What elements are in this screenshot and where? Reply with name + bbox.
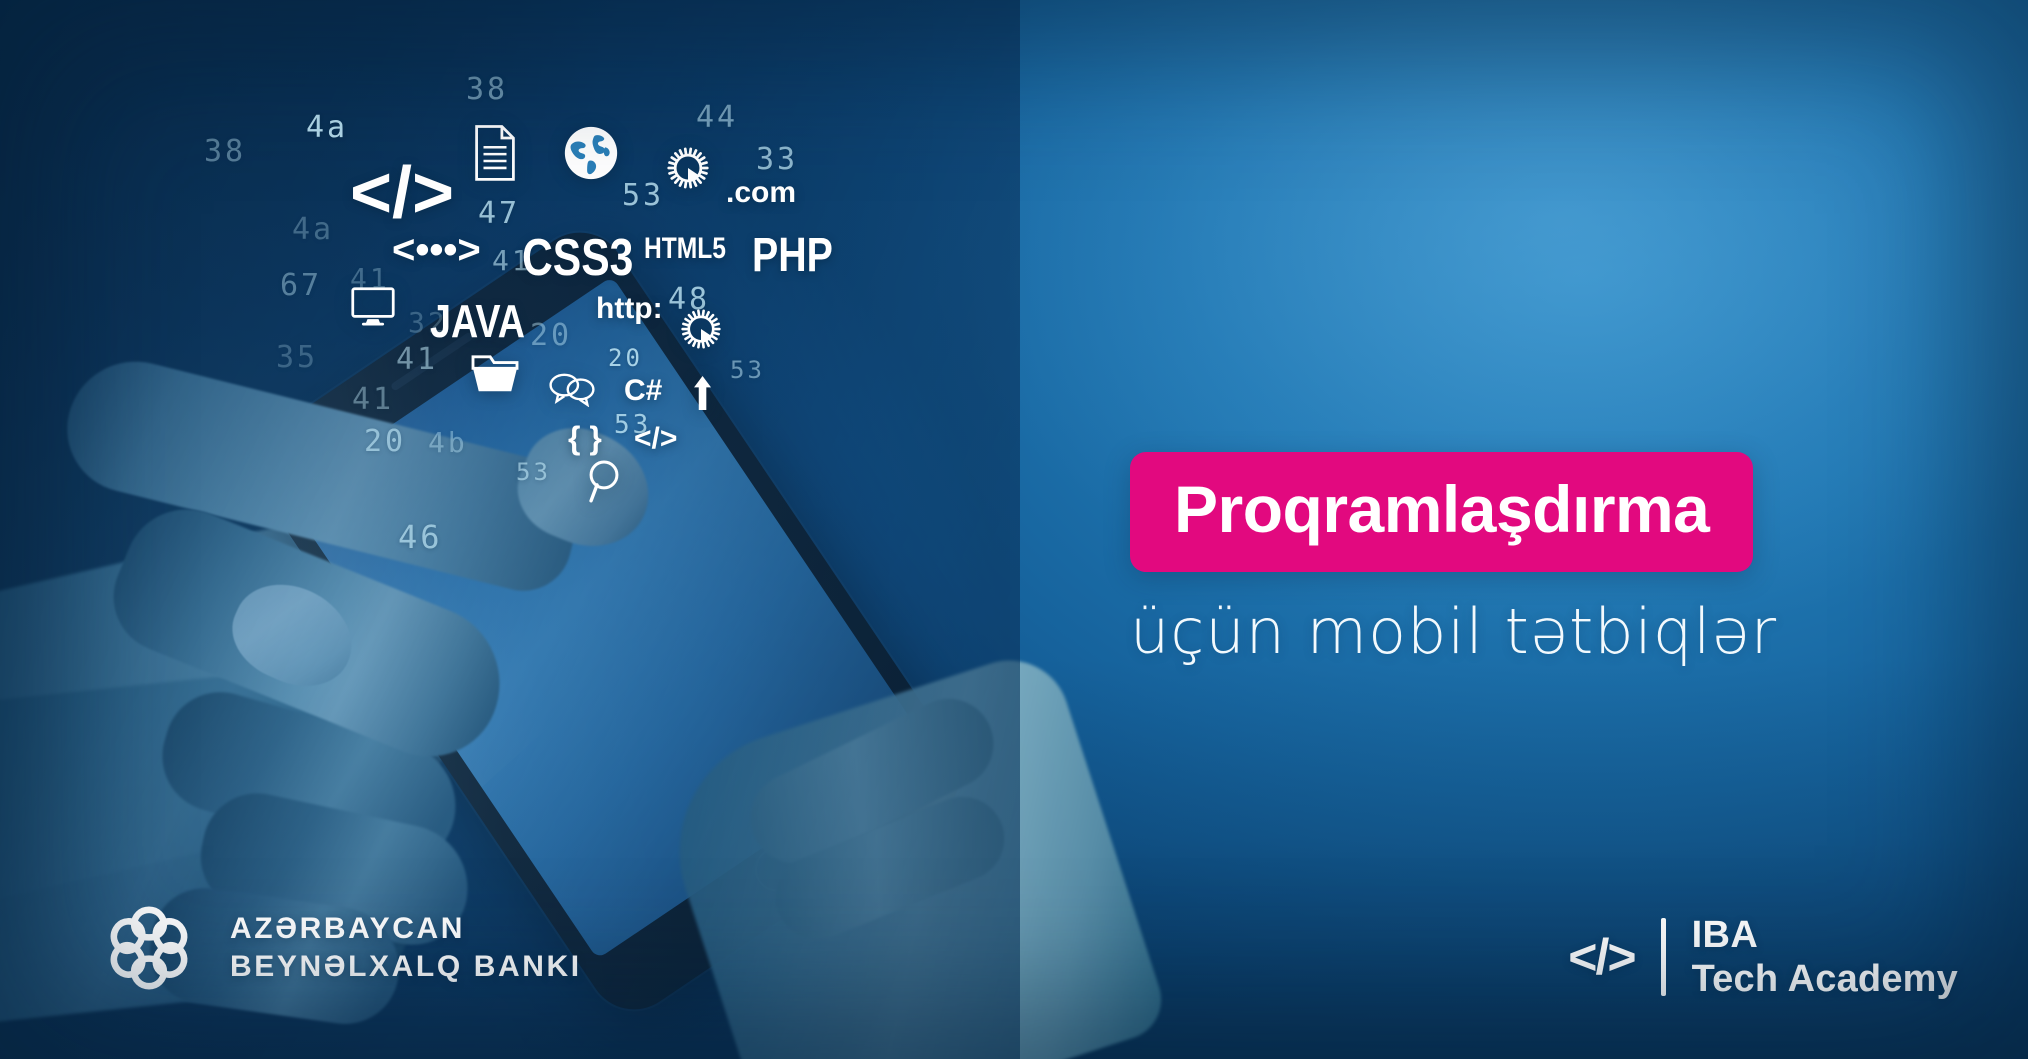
banner-vignette <box>0 0 2028 1059</box>
promotional-banner: 384a38443353474a416741324820203541534153… <box>0 0 2028 1059</box>
